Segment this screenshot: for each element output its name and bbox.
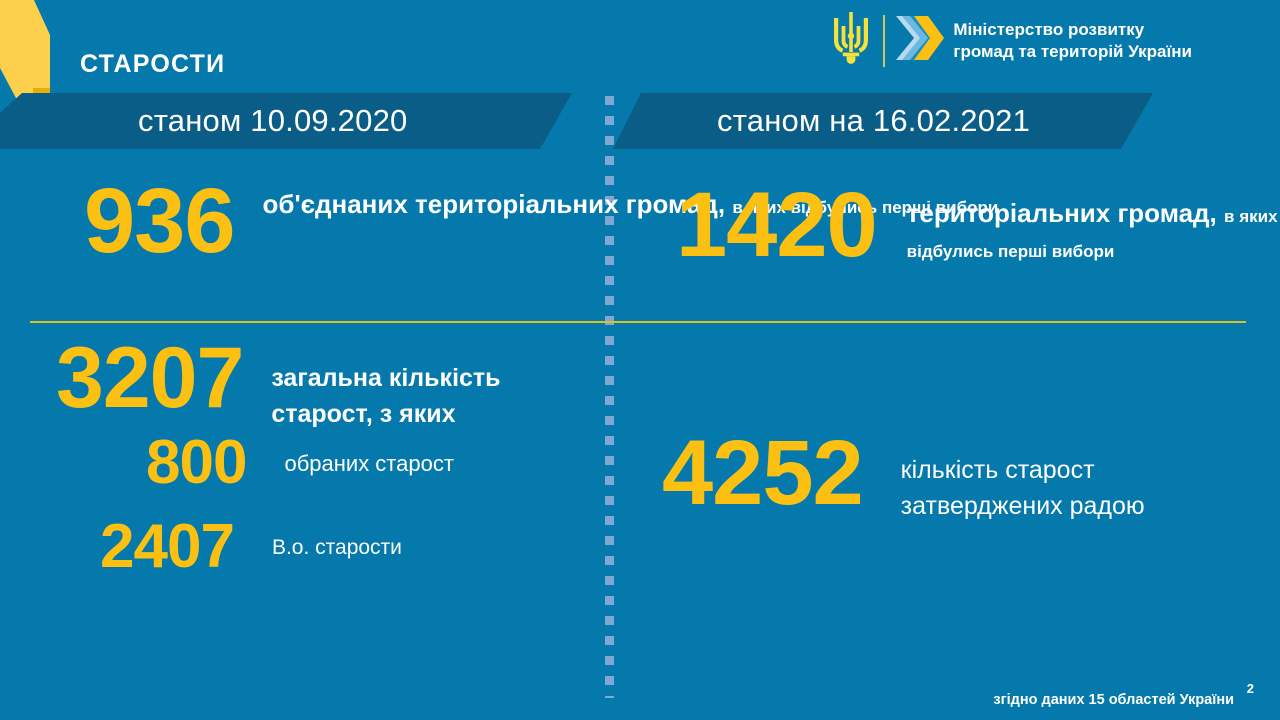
stat-block-2407: 2407 В.о. старости <box>100 518 402 576</box>
ministry-logo: Міністерство розвитку громад та територі… <box>828 10 1192 71</box>
left-column-banner: станом 10.09.2020 <box>0 93 572 149</box>
stat-label-line2: затверджених радою <box>901 492 1145 520</box>
stat-value: 2407 <box>100 518 234 576</box>
logo-divider <box>883 15 885 67</box>
stat-label-line2: старост, з яких <box>271 400 455 428</box>
right-column-banner: станом на 16.02.2021 <box>613 93 1153 149</box>
ministry-name: Міністерство розвитку громад та територі… <box>953 19 1192 62</box>
left-banner-text: станом 10.09.2020 <box>138 103 407 139</box>
stat-block-3207: 3207 загальна кількість старост, з яких <box>56 338 501 433</box>
double-chevron-icon <box>894 10 944 71</box>
right-banner-date: 16.02.2021 <box>873 103 1030 138</box>
page-title: СТАРОСТИ <box>80 50 225 79</box>
corner-decoration <box>0 0 50 100</box>
stat-value: 1420 <box>676 182 877 268</box>
stat-value: 3207 <box>56 338 243 419</box>
stat-value: 800 <box>146 434 246 492</box>
stat-label: обраних старост <box>284 450 453 479</box>
stat-label: територіальних громад, в яких відбулись … <box>907 196 1280 267</box>
footer-source-note: згідно даних 15 областей України <box>993 692 1234 708</box>
stat-block-800: 800 обраних старост <box>146 434 454 492</box>
stat-label-main: об'єднаних територіальних громад, <box>263 189 726 219</box>
stat-block-4252: 4252 кількість старост затверджених радо… <box>662 430 1145 525</box>
stat-label: загальна кількість старост, з яких <box>271 360 500 433</box>
stat-value: 4252 <box>662 430 863 516</box>
horizontal-rule <box>30 321 1246 323</box>
slide-canvas: СТАРОСТИ <box>0 0 1280 720</box>
stat-label: В.о. старости <box>272 534 402 561</box>
page-number: 2 <box>1247 681 1254 696</box>
left-banner-date: 10.09.2020 <box>250 103 407 138</box>
stat-label: кількість старост затверджених радою <box>901 452 1145 525</box>
ukraine-trident-icon <box>828 10 874 71</box>
stat-value: 936 <box>84 178 235 264</box>
right-banner-text: станом на 16.02.2021 <box>717 103 1030 139</box>
stat-label-main: територіальних громад, <box>907 198 1217 228</box>
stat-label-line1: загальна кількість <box>271 364 500 392</box>
stat-label-line1: кількість старост <box>901 456 1095 484</box>
stat-block-1420: 1420 територіальних громад, в яких відбу… <box>676 182 1280 268</box>
